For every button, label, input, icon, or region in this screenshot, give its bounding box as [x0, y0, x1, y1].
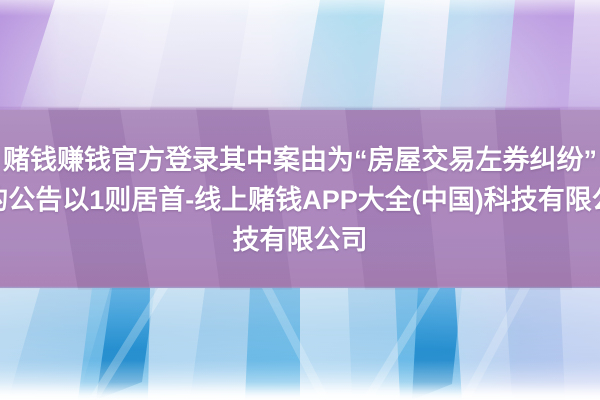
- facet-bot-6: [245, 288, 300, 400]
- caption-line-2: 的公告以1则居首-线上赌钱APP大全(中国)科技有限公: [0, 180, 600, 220]
- facet-bot-3: [78, 288, 150, 400]
- facet-bot-10: [455, 288, 512, 400]
- facet-bot-5: [190, 288, 250, 400]
- caption-line-1: 赌钱赚钱官方登录其中案由为“房屋交易左券纠纷”: [0, 140, 600, 180]
- facet-crease-1: [88, 288, 168, 400]
- facet-bot-7: [300, 288, 352, 400]
- banner-image: 赌钱赚钱官方登录其中案由为“房屋交易左券纠纷” 的公告以1则居首-线上赌钱APP…: [0, 0, 600, 400]
- background-top-fade: [0, 0, 600, 16]
- facet-top-1: [0, 0, 55, 110]
- facet-top-2: [20, 0, 110, 110]
- facet-bot-2: [8, 288, 110, 400]
- background-bottom-hue-wash: [0, 288, 600, 400]
- banner-caption: 赌钱赚钱官方登录其中案由为“房屋交易左券纠纷” 的公告以1则居首-线上赌钱APP…: [0, 140, 600, 260]
- facet-crease-2: [262, 288, 330, 400]
- facet-bot-4: [148, 288, 205, 400]
- facet-top-3: [78, 0, 175, 110]
- background-top-hue-wash: [0, 0, 600, 110]
- caption-line-3: 技有限公司: [0, 220, 600, 260]
- facet-crease-3: [362, 288, 440, 400]
- facet-top-9: [505, 0, 575, 110]
- facet-top-7: [372, 0, 450, 110]
- facet-top-5: [232, 0, 320, 110]
- facet-top-10: [568, 0, 600, 110]
- facet-bot-diamond-1: [96, 288, 155, 400]
- facet-bot-11: [505, 288, 565, 400]
- background-bottom-fade: [0, 360, 600, 400]
- facet-top-4: [150, 0, 250, 110]
- facet-bot-12: [560, 288, 600, 400]
- facet-bot-9: [395, 288, 462, 400]
- facet-bot-diamond-2: [412, 288, 462, 400]
- facet-bot-8: [348, 288, 400, 400]
- facet-crease-4: [460, 288, 530, 400]
- facet-top-6: [300, 0, 385, 110]
- facet-bot-1: [0, 288, 40, 400]
- facet-top-8: [440, 0, 515, 110]
